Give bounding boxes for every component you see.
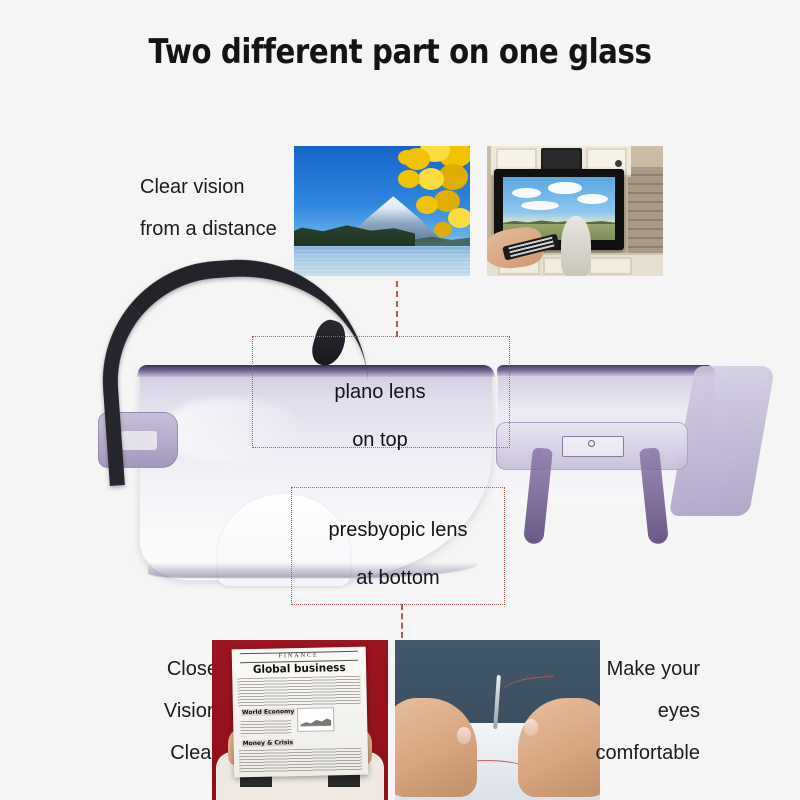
page-title: Two different part on one glass xyxy=(56,32,744,72)
newspaper-columns xyxy=(238,676,362,707)
screen-cloud xyxy=(521,201,559,210)
callout-close-vision-line1: Close xyxy=(118,648,218,690)
callout-make-eyes-line2: eyes xyxy=(572,690,700,732)
newspaper-columns xyxy=(239,748,363,774)
newspaper-subhead-2: Money & Crisis xyxy=(242,739,295,747)
newspaper-chart xyxy=(297,707,334,732)
newspaper-page: FINANCE Global business World Economy Mo… xyxy=(232,647,368,778)
fingernail xyxy=(524,719,538,736)
plano-lens-label-line2: on top xyxy=(230,416,530,464)
newspaper-headline: Global business xyxy=(242,661,357,676)
plano-lens-label: plano lens on top xyxy=(230,368,530,464)
callout-clear-vision-line1: Clear vision xyxy=(140,166,277,208)
cabinet-knob xyxy=(615,160,622,167)
callout-close-vision-line3: Clear xyxy=(118,732,218,774)
callout-close-vision: Close Vision Clear xyxy=(118,648,218,774)
screen-cloud xyxy=(577,194,608,204)
bridge-engraving xyxy=(562,436,625,457)
presbyopic-lens-label-line1: presbyopic lens xyxy=(280,506,516,554)
screen-cloud xyxy=(512,188,541,198)
screen-cloud xyxy=(548,182,582,193)
watching-tv-photo xyxy=(487,146,663,276)
connector-line-bottom xyxy=(401,604,403,638)
plano-lens-label-line1: plano lens xyxy=(230,368,530,416)
newspaper-columns xyxy=(240,720,291,736)
newspaper-reading-photo: FINANCE Global business World Economy Mo… xyxy=(212,640,388,800)
callout-clear-vision: Clear vision from a distance xyxy=(140,166,277,250)
callout-make-eyes-line1: Make your xyxy=(572,648,700,690)
presbyopic-lens-label-line2: at bottom xyxy=(280,554,516,602)
presbyopic-lens-label: presbyopic lens at bottom xyxy=(280,506,516,602)
callout-make-eyes-comfortable: Make your eyes comfortable xyxy=(572,648,700,774)
newspaper-subhead-1: World Economy xyxy=(241,708,295,716)
tv-stone-column xyxy=(628,167,663,255)
callout-clear-vision-line2: from a distance xyxy=(140,208,277,250)
callout-make-eyes-line3: comfortable xyxy=(572,732,700,774)
callout-close-vision-line2: Vision xyxy=(118,690,218,732)
threading-needle-photo xyxy=(395,640,600,800)
fingernail xyxy=(457,727,471,744)
ginkgo-foliage xyxy=(365,146,470,245)
infographic-canvas: Two different part on one glass Clear vi… xyxy=(0,0,800,800)
mount-fuji-lake-photo xyxy=(294,146,470,276)
